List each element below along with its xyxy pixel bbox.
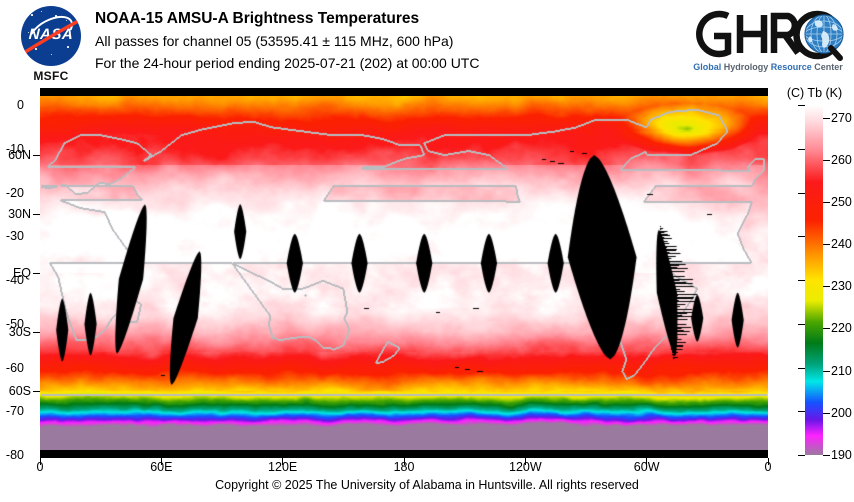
header-text-block: NOAA-15 AMSU-A Brightness Temperatures A… xyxy=(95,8,685,74)
colorbar-header: (C) Tb (K) xyxy=(775,86,854,102)
ghrc-tagline-global: Global xyxy=(693,62,724,72)
colorbar-label-kelvin: 240 xyxy=(831,237,852,251)
colorbar-tick-celsius xyxy=(798,193,805,194)
colorbar-label-kelvin: 210 xyxy=(831,364,852,378)
colorbar-label-kelvin: 190 xyxy=(831,448,852,462)
longitude-label: 60E xyxy=(150,460,172,474)
colorbar-label-kelvin: 220 xyxy=(831,321,852,335)
colorbar-tick-celsius xyxy=(798,368,805,369)
colorbar-label-kelvin: 230 xyxy=(831,279,852,293)
colorbar-tick-kelvin xyxy=(823,371,830,372)
colorbar-tick-celsius xyxy=(798,105,805,106)
copyright-footer: Copyright © 2025 The University of Alaba… xyxy=(0,478,854,492)
colorbar-tick-kelvin xyxy=(823,118,830,119)
header-subtitle-channel: All passes for channel 05 (53595.41 ± 11… xyxy=(95,30,685,52)
colorbar-label-kelvin: 260 xyxy=(831,153,852,167)
colorbar-gradient xyxy=(805,105,823,455)
colorbar-tick-kelvin xyxy=(823,328,830,329)
longitude-label: 180 xyxy=(394,460,415,474)
latitude-tick xyxy=(33,332,40,333)
map-frame xyxy=(40,88,768,458)
colorbar-label-kelvin: 250 xyxy=(831,195,852,209)
latitude-label: 60N xyxy=(8,148,31,162)
colorbar-tick-kelvin xyxy=(823,160,830,161)
latitude-label: 30N xyxy=(8,207,31,221)
colorbar-tick-kelvin xyxy=(823,244,830,245)
longitude-label: 0 xyxy=(37,460,44,474)
latitude-tick xyxy=(33,155,40,156)
ghrc-tagline: Global Hydrology Resource Center xyxy=(688,62,848,73)
ghrc-tagline-center: Center xyxy=(814,62,843,72)
brightness-temperature-map[interactable] xyxy=(40,96,768,450)
latitude-tick xyxy=(33,214,40,215)
colorbar[interactable] xyxy=(805,105,823,455)
longitude-label: 60W xyxy=(634,460,660,474)
colorbar-label-kelvin: 270 xyxy=(831,111,852,125)
colorbar-tick-celsius xyxy=(798,149,805,150)
latitude-tick xyxy=(33,273,40,274)
longitude-label: 120E xyxy=(268,460,297,474)
latitude-label: 60S xyxy=(9,384,31,398)
longitude-label: 120W xyxy=(509,460,542,474)
colorbar-tick-kelvin xyxy=(823,286,830,287)
colorbar-tick-celsius xyxy=(798,324,805,325)
colorbar-tick-kelvin xyxy=(823,413,830,414)
colorbar-tick-celsius xyxy=(798,236,805,237)
colorbar-tick-kelvin xyxy=(823,455,830,456)
latitude-label: EQ xyxy=(13,266,31,280)
colorbar-label-kelvin: 200 xyxy=(831,406,852,420)
latitude-label: 30S xyxy=(9,325,31,339)
page-title: NOAA-15 AMSU-A Brightness Temperatures xyxy=(95,8,685,30)
latitude-axis xyxy=(0,0,31,502)
latitude-tick xyxy=(33,391,40,392)
longitude-label: 0 xyxy=(765,460,772,474)
figure-root: NASA MSFC NOAA-15 AMSU-A Brightness Temp… xyxy=(0,0,854,502)
colorbar-tick-celsius xyxy=(798,411,805,412)
colorbar-tick-celsius xyxy=(798,455,805,456)
ghrc-wordmark xyxy=(684,6,850,62)
ghrc-tagline-resource: Resource xyxy=(771,62,815,72)
header-subtitle-period: For the 24-hour period ending 2025-07-21… xyxy=(95,52,685,74)
ghrc-tagline-hydrology: Hydrology xyxy=(724,62,771,72)
ghrc-logo: Global Hydrology Resource Center xyxy=(684,6,850,84)
map-raster[interactable] xyxy=(40,96,768,450)
colorbar-tick-celsius xyxy=(798,280,805,281)
colorbar-tick-kelvin xyxy=(823,202,830,203)
